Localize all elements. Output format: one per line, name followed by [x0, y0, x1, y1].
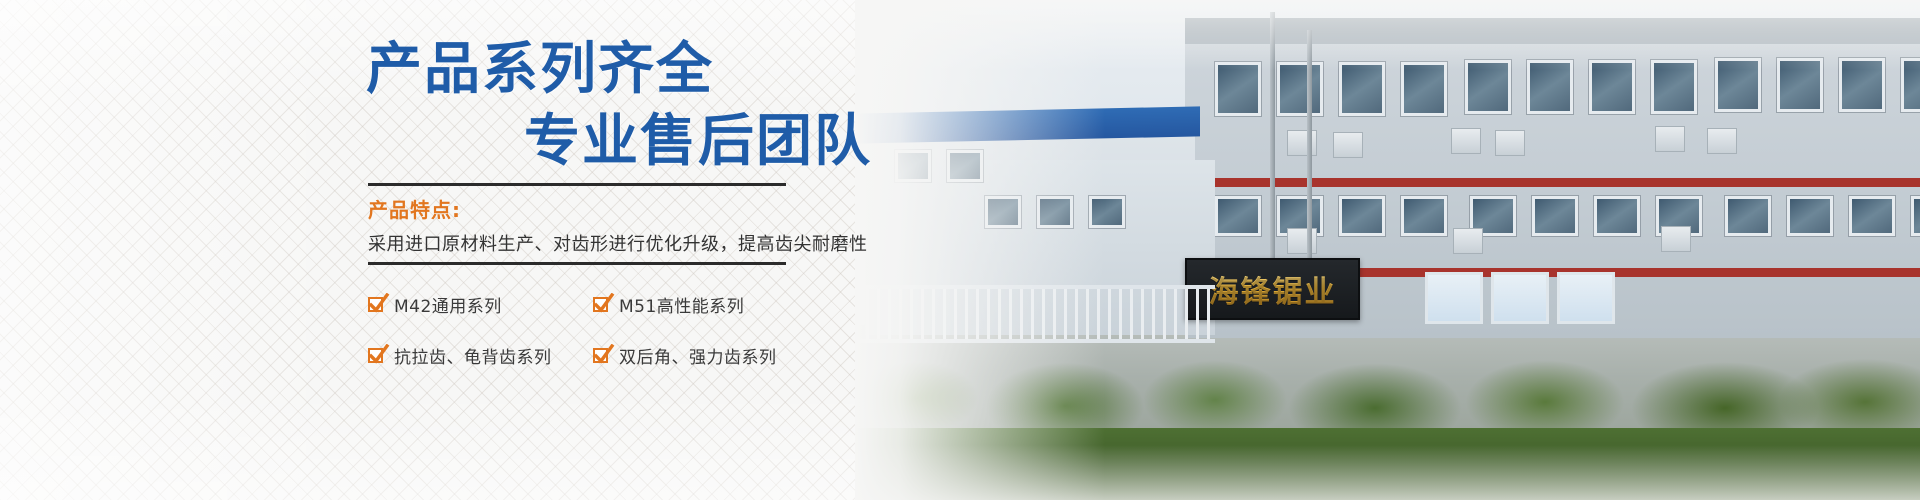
window-row-mid-right [1725, 196, 1920, 236]
window-row-top-left [1215, 62, 1447, 116]
list-item-label: M42通用系列 [394, 292, 502, 317]
checked-checkbox-icon [593, 348, 608, 363]
window [1339, 62, 1385, 116]
air-conditioner-unit [1287, 228, 1317, 254]
list-item[interactable]: M42通用系列 [368, 292, 583, 317]
list-item-label: 抗拉齿、龟背齿系列 [394, 343, 552, 368]
window [1215, 196, 1261, 236]
list-item-label: M51高性能系列 [619, 292, 744, 317]
headline-line-2: 专业售后团队 [524, 96, 872, 177]
air-conditioner-unit [1707, 128, 1737, 154]
feature-description: 采用进口原材料生产、对齿形进行优化升级，提高齿尖耐磨性 [368, 230, 868, 256]
air-conditioner-unit [1661, 226, 1691, 252]
notice-board [1425, 272, 1483, 324]
checked-checkbox-icon [593, 297, 608, 312]
list-item[interactable]: 双后角、强力齿系列 [593, 343, 808, 368]
factory-photo: 海锋锯业 [855, 0, 1920, 500]
window [1401, 196, 1447, 236]
factory-photo-scene: 海锋锯业 [855, 0, 1920, 500]
window [1849, 196, 1895, 236]
window [1725, 196, 1771, 236]
banner-content: 产品系列齐全 专业售后团队 产品特点: 采用进口原材料生产、对齿形进行优化升级，… [0, 0, 900, 500]
divider-top [368, 183, 786, 186]
window [1532, 196, 1578, 236]
window [1911, 196, 1920, 236]
promo-banner: 海锋锯业 产品系列齐全 专业售后团队 产品特点: 采用进口原材料生产、对齿形进行… [0, 0, 1920, 500]
notice-board [1491, 272, 1549, 324]
window-row-mid-left [1215, 196, 1447, 236]
checked-checkbox-icon [368, 297, 383, 312]
air-conditioner-unit [1451, 128, 1481, 154]
checked-checkbox-icon [368, 348, 383, 363]
feature-title: 产品特点: [368, 194, 461, 223]
air-conditioner-unit [1655, 126, 1685, 152]
headline-line-1: 产品系列齐全 [366, 24, 714, 105]
list-item-label: 双后角、强力齿系列 [619, 343, 777, 368]
window [1787, 196, 1833, 236]
air-conditioner-unit [1287, 130, 1317, 156]
window [1277, 62, 1323, 116]
air-conditioner-unit [1495, 130, 1525, 156]
air-conditioner-unit [1453, 228, 1483, 254]
divider-bottom [368, 262, 786, 265]
window [1339, 196, 1385, 236]
window [1401, 62, 1447, 116]
series-list: M42通用系列 M51高性能系列 抗拉齿、龟背齿系列 [368, 292, 808, 368]
list-item[interactable]: M51高性能系列 [593, 292, 808, 317]
window [1594, 196, 1640, 236]
list-item[interactable]: 抗拉齿、龟背齿系列 [368, 343, 583, 368]
red-stripe-upper [1185, 178, 1920, 187]
notice-board [1557, 272, 1615, 324]
air-conditioner-unit [1333, 132, 1363, 158]
company-sign-text: 海锋锯业 [1209, 267, 1337, 311]
window [1215, 62, 1261, 116]
